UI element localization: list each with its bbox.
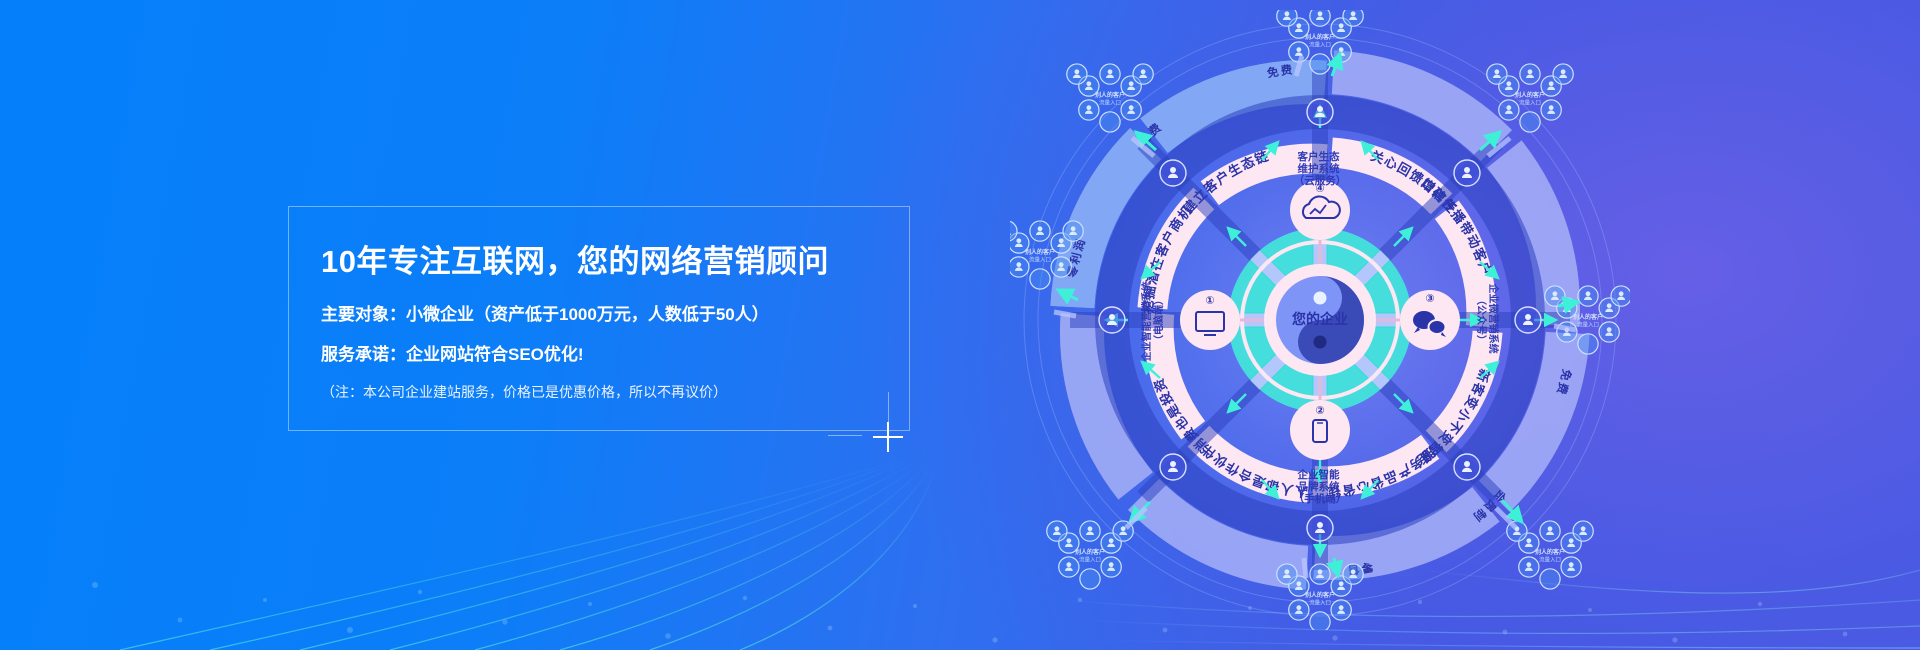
promo-text-panel: 10年专注互联网，您的网络营销顾问 主要对象：小微企业（资产低于1000万元，人… xyxy=(288,206,910,431)
cluster-sublabel: 流量入口 xyxy=(1539,555,1561,563)
panel-tick-horizontal xyxy=(828,435,862,436)
node-number-2: ② xyxy=(1315,405,1324,417)
panel-tick-vertical xyxy=(888,392,889,424)
cluster-sublabel: 流量入口 xyxy=(1309,40,1331,48)
cluster-sublabel: 流量入口 xyxy=(1029,255,1051,263)
cluster-sublabel: 流量入口 xyxy=(1519,98,1541,106)
target-audience-line: 主要对象：小微企业（资产低于1000万元，人数低于50人） xyxy=(321,305,909,325)
cluster-label: 别人的客户 xyxy=(1304,33,1335,41)
cluster-label: 别人的客户 xyxy=(1074,548,1105,556)
cluster-sublabel: 流量入口 xyxy=(1577,320,1599,328)
system-node-4[interactable]: ④ 客户生态 维护系统 （云服务） xyxy=(1290,150,1350,240)
background-rays-decoration xyxy=(0,450,1920,650)
cluster-label: 别人的客户 xyxy=(1514,91,1545,99)
hero-banner: 10年专注互联网，您的网络营销顾问 主要对象：小微企业（资产低于1000万元，人… xyxy=(0,0,1920,650)
cluster-sublabel: 流量入口 xyxy=(1309,598,1331,606)
cluster-label: 别人的客户 xyxy=(1024,248,1055,256)
customer-cluster: 别人的客户 流量入口 xyxy=(1047,521,1133,589)
pricing-note-line: （注：本公司企业建站服务，价格已是优惠价格，所以不再议价） xyxy=(321,384,909,401)
node-label-2: 企业智能 品牌系统 （手机端） xyxy=(1294,468,1347,505)
node-number-1: ① xyxy=(1205,295,1214,307)
customer-cluster: 别人的客户 流量入口 xyxy=(1507,521,1593,589)
diagram-center-label: 您的企业 xyxy=(1292,311,1348,327)
cluster-label: 别人的客户 xyxy=(1572,313,1603,321)
cluster-label: 别人的客户 xyxy=(1094,91,1125,99)
diagram-core: 您的企业 xyxy=(1228,228,1412,412)
service-promise-line: 服务承诺：企业网站符合SEO优化! xyxy=(321,345,909,365)
ecosystem-diagram: 免费 零利润 免费 免费 会员制 零售 建立客户生态链 关心回馈增信任 消费也是… xyxy=(1010,10,1630,630)
cluster-sublabel: 流量入口 xyxy=(1099,98,1121,106)
cluster-label: 别人的客户 xyxy=(1304,591,1335,599)
node-number-3: ③ xyxy=(1425,293,1434,305)
cluster-label: 别人的客户 xyxy=(1534,548,1565,556)
page-title: 10年专注互联网，您的网络营销顾问 xyxy=(321,245,909,279)
cluster-sublabel: 流量入口 xyxy=(1079,555,1101,563)
node-label-4: 客户生态 维护系统 （云服务） xyxy=(1294,150,1347,187)
